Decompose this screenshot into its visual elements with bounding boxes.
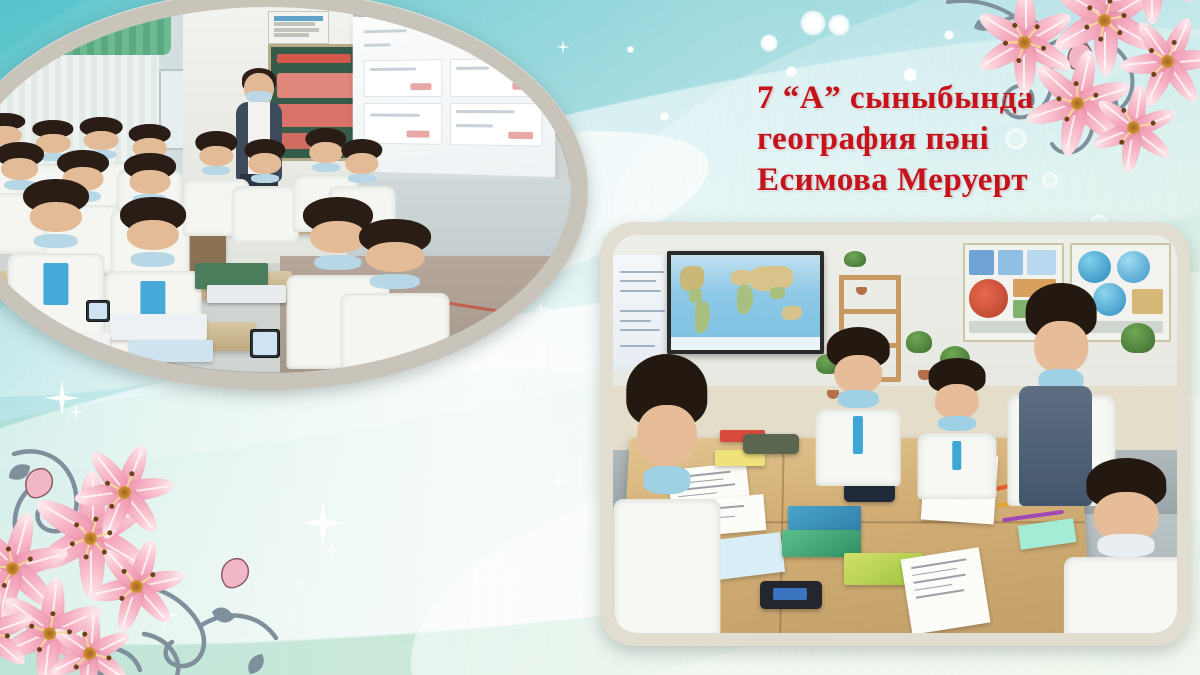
student-figure	[613, 354, 720, 633]
photo-group-work[interactable]	[600, 222, 1190, 646]
photo-classroom-overview[interactable]	[0, 0, 588, 390]
potted-plant	[906, 331, 932, 353]
potted-plant	[844, 251, 866, 267]
geography-lesson-scene	[613, 235, 1177, 633]
slide-canvas: 7 “А” сыныбында география пәні Есимова М…	[0, 0, 1200, 675]
title-line-2: география пәні	[757, 119, 1157, 160]
smartphone	[250, 329, 280, 358]
student-figure	[341, 219, 450, 373]
student-figure	[918, 358, 997, 501]
world-map	[667, 251, 825, 354]
notebook	[110, 314, 207, 340]
photo-classroom-overview-image	[0, 7, 571, 373]
pencil-case	[760, 581, 822, 609]
slide-title: 7 “А” сыныбында география пәні Есимова М…	[757, 78, 1157, 201]
student-figure	[1064, 458, 1177, 633]
pencil-case	[743, 434, 799, 454]
worksheet	[901, 548, 991, 633]
classroom-scene	[0, 7, 571, 373]
smartphone	[86, 300, 110, 322]
wall-poster	[268, 11, 329, 44]
flower-pot	[856, 287, 867, 295]
photo-group-work-image	[613, 235, 1177, 633]
title-line-1: 7 “А” сыныбында	[757, 78, 1157, 119]
student-figure	[816, 327, 901, 486]
notebook	[38, 333, 111, 355]
projected-slide	[613, 255, 675, 370]
potted-plant	[1121, 323, 1155, 353]
notebook	[207, 285, 286, 303]
notebook	[129, 340, 214, 362]
title-line-3: Есимова Меруерт	[757, 160, 1157, 201]
